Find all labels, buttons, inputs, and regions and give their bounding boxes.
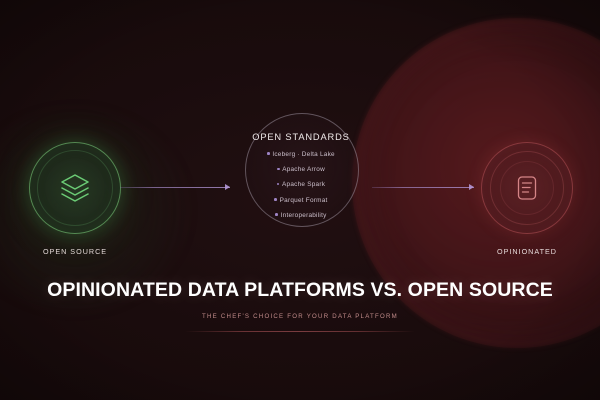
list-item-label: Iceberg · Delta Lake xyxy=(272,151,335,158)
node-opinionated[interactable]: OPINIONATED xyxy=(476,142,578,256)
list-item: Parquet Format xyxy=(233,197,369,204)
document-icon xyxy=(510,171,544,205)
open-standards-title: OPEN STANDARDS xyxy=(233,132,369,142)
list-item-label: Apache Arrow xyxy=(282,166,325,173)
arrow-line xyxy=(120,187,230,188)
arrow-head-icon xyxy=(225,184,230,190)
arrow-line xyxy=(372,187,474,188)
arrow-standards-to-opinionated xyxy=(372,183,474,191)
list-item-label: Apache Spark xyxy=(282,181,325,188)
page-title: OPINIONATED DATA PLATFORMS VS. OPEN SOUR… xyxy=(0,279,600,302)
node-open-source[interactable]: OPEN SOURCE xyxy=(24,142,126,256)
open-standards-panel: OPEN STANDARDS Iceberg · Delta Lake Apac… xyxy=(233,132,369,227)
bullet-dot-icon xyxy=(277,183,280,186)
list-item: Interoperability xyxy=(233,212,369,219)
footer-divider xyxy=(185,331,415,332)
bullet-dot-icon xyxy=(277,168,280,171)
open-source-label: OPEN SOURCE xyxy=(24,247,126,256)
opinionated-circle[interactable] xyxy=(481,142,573,234)
bullet-dot-icon xyxy=(275,213,278,216)
arrow-open-source-to-standards xyxy=(120,183,230,191)
page-subtitle: THE CHEF'S CHOICE FOR YOUR DATA PLATFORM xyxy=(0,313,600,320)
slide-canvas: OPEN SOURCE OPEN STANDARDS Iceberg · Del… xyxy=(0,0,600,400)
list-item-label: Parquet Format xyxy=(280,197,328,204)
bullet-dot-icon xyxy=(274,198,277,201)
open-standards-list: Iceberg · Delta Lake Apache Arrow Apache… xyxy=(233,151,369,219)
layers-icon xyxy=(55,168,95,208)
opinionated-label: OPINIONATED xyxy=(476,247,578,256)
list-item-label: Interoperability xyxy=(281,212,327,219)
list-item: Apache Spark xyxy=(233,181,369,188)
open-source-circle[interactable] xyxy=(29,142,121,234)
list-item: Apache Arrow xyxy=(233,166,369,173)
list-item: Iceberg · Delta Lake xyxy=(233,151,369,158)
arrow-head-icon xyxy=(469,184,474,190)
bullet-dot-icon xyxy=(267,152,270,155)
